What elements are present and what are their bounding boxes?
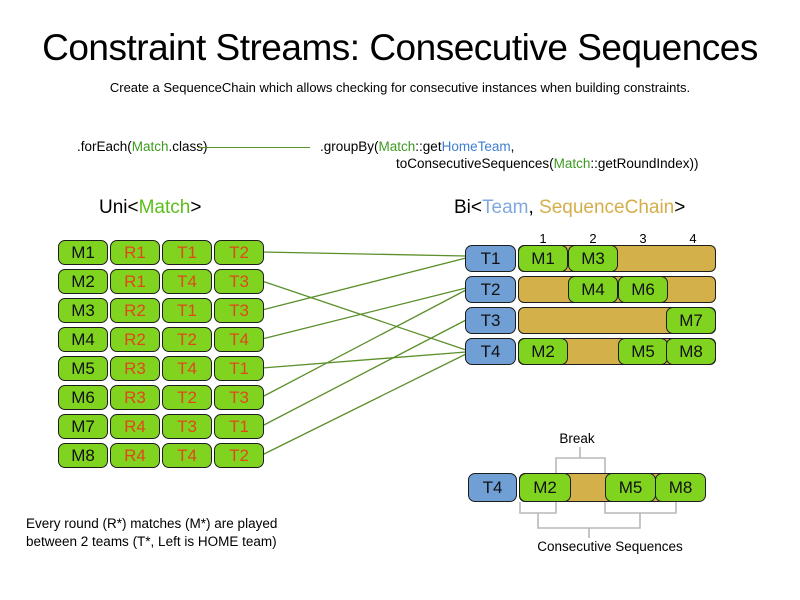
detail-cell-match: M5 <box>605 473 656 502</box>
brace-lines <box>0 0 800 600</box>
footnote: Every round (R*) matches (M*) are played… <box>26 515 277 551</box>
consecutive-sequences-label: Consecutive Sequences <box>470 538 750 555</box>
detail-cell-match: M2 <box>519 473 571 502</box>
detail-team-label: T4 <box>468 473 517 502</box>
slide-canvas: Constraint Streams: Consecutive Sequence… <box>0 0 800 600</box>
detail-cell-match: M8 <box>655 473 706 502</box>
